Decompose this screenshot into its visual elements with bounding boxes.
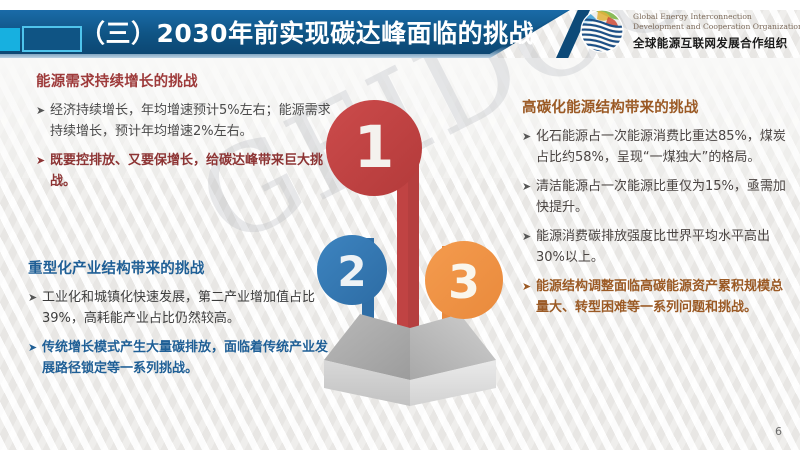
arrow-bullet-icon: ➤ [522, 126, 536, 168]
section-heavy-industry: 重型化产业结构带来的挑战 ➤ 工业化和城镇化快速发展，第二产业增加值占比39%，… [28, 257, 334, 387]
header-blue-square [22, 26, 82, 52]
logo-chinese-name: 全球能源互联网发展合作组织 [633, 35, 800, 51]
pin-label-3: 3 [448, 255, 480, 309]
bullet-text: 传统增长模式产生大量碳排放，面临着传统产业发展路径锁定等一系列挑战。 [42, 337, 334, 379]
section-title-energy-demand: 能源需求持续增长的挑战 [36, 70, 332, 91]
logo-english-line1: Global Energy Interconnection [633, 12, 800, 23]
logo-text-block: Global Energy Interconnection Developmen… [633, 12, 800, 51]
bullet-item: ➤ 能源结构调整面临高碳能源资产累积规模总量大、转型困难等一系列问题和挑战。 [522, 276, 794, 318]
logo-english-line2: Development and Cooperation Organization [633, 22, 800, 33]
arrow-bullet-icon: ➤ [36, 150, 50, 192]
section-high-carbon: 高碳化能源结构带来的挑战 ➤ 化石能源占一次能源消费比重达85%，煤炭占比约58… [522, 96, 794, 326]
bullet-text: 清洁能源占一次能源比重仅为15%，亟需加快提升。 [536, 176, 794, 218]
page-title: （三）2030年前实现碳达峰面临的挑战 [80, 14, 530, 54]
arrow-bullet-icon: ➤ [522, 276, 536, 318]
pin-label-1: 1 [354, 113, 394, 181]
bullet-item: ➤ 清洁能源占一次能源比重仅为15%，亟需加快提升。 [522, 176, 794, 218]
pin-label-2: 2 [337, 247, 366, 296]
section-title-high-carbon: 高碳化能源结构带来的挑战 [522, 96, 794, 117]
arrow-bullet-icon: ➤ [522, 176, 536, 218]
bullet-text: 工业化和城镇化快速发展，第二产业增加值占比39%，高耗能产业占比仍然较高。 [42, 287, 334, 329]
bullet-item: ➤ 既要控排放、又要保增长，给碳达峰带来巨大挑战。 [36, 150, 332, 192]
pin-circle-3: 3 [425, 241, 503, 319]
pin-circle-1: 1 [326, 100, 422, 196]
section-title-heavy-industry: 重型化产业结构带来的挑战 [28, 257, 334, 278]
section-energy-demand: 能源需求持续增长的挑战 ➤ 经济持续增长，年均增速预计5%左右；能源需求持续增长… [36, 70, 332, 200]
slide-canvas: GEIDCO （三）2030年前实现碳达峰面临的挑战 [0, 0, 800, 450]
bullet-item: ➤ 经济持续增长，年均增速预计5%左右；能源需求持续增长，预计年均增速2%左右。 [36, 100, 332, 142]
header-cyan-square [0, 28, 20, 51]
arrow-bullet-icon: ➤ [28, 287, 42, 329]
bullet-item: ➤ 化石能源占一次能源消费比重达85%，煤炭占比约58%，呈现“一煤独大”的格局… [522, 126, 794, 168]
bullet-text: 能源消费碳排放强度比世界平均水平高出30%以上。 [536, 226, 794, 268]
bullet-text: 能源结构调整面临高碳能源资产累积规模总量大、转型困难等一系列问题和挑战。 [536, 276, 794, 318]
page-number: 6 [775, 425, 782, 438]
bullet-text: 化石能源占一次能源消费比重达85%，煤炭占比约58%，呈现“一煤独大”的格局。 [536, 126, 794, 168]
organization-logo: Global Energy Interconnection Developmen… [578, 4, 800, 58]
bullet-item: ➤ 工业化和城镇化快速发展，第二产业增加值占比39%，高耗能产业占比仍然较高。 [28, 287, 334, 329]
arrow-bullet-icon: ➤ [28, 337, 42, 379]
globe-icon [578, 7, 626, 55]
arrow-bullet-icon: ➤ [36, 100, 50, 142]
bullet-item: ➤ 能源消费碳排放强度比世界平均水平高出30%以上。 [522, 226, 794, 268]
bullet-text: 经济持续增长，年均增速预计5%左右；能源需求持续增长，预计年均增速2%左右。 [50, 100, 332, 142]
arrow-bullet-icon: ➤ [522, 226, 536, 268]
bullet-text: 既要控排放、又要保增长，给碳达峰带来巨大挑战。 [50, 150, 332, 192]
bullet-item: ➤ 传统增长模式产生大量碳排放，面临着传统产业发展路径锁定等一系列挑战。 [28, 337, 334, 379]
slide-header: （三）2030年前实现碳达峰面临的挑战 [0, 0, 800, 62]
